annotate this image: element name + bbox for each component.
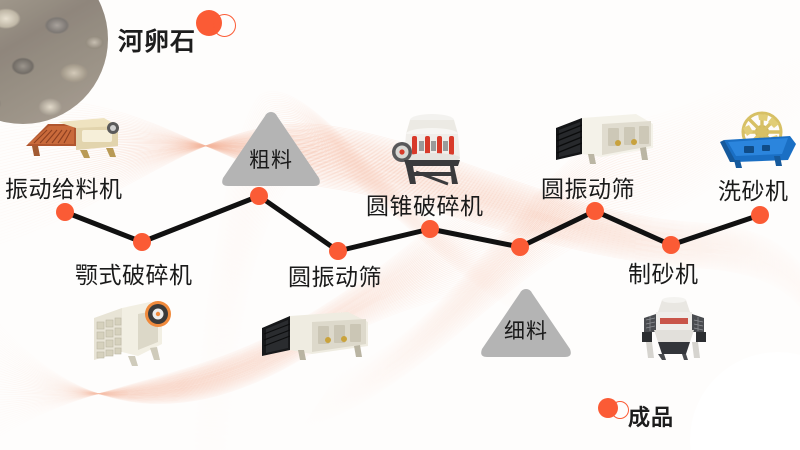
flow-node-label-vibrating-feeder: 振动给料机 xyxy=(5,170,123,204)
flow-node-jaw-crusher[interactable] xyxy=(133,233,151,251)
flowchart-canvas: 粗料 细料 振动给料机颚式破碎机圆振动筛圆锥破碎机圆振动筛制砂机洗砂机 河卵石 … xyxy=(0,0,800,450)
flow-node-peak-1[interactable] xyxy=(250,187,268,205)
flow-node-node-mid[interactable] xyxy=(511,238,529,256)
flow-node-label-cone-crusher: 圆锥破碎机 xyxy=(366,187,484,221)
flow-node-label-vibrating-screen-1: 圆振动筛 xyxy=(288,258,382,292)
process-flow-line xyxy=(0,0,800,450)
flow-node-label-sand-washer: 洗砂机 xyxy=(718,172,789,206)
outline-circle-icon xyxy=(213,14,236,37)
flow-node-label-jaw-crusher: 颚式破碎机 xyxy=(75,256,193,290)
flow-node-sand-maker[interactable] xyxy=(662,236,680,254)
flow-node-label-vibrating-screen-2: 圆振动筛 xyxy=(541,170,635,204)
outline-circle-icon xyxy=(611,401,629,419)
flow-node-cone-crusher[interactable] xyxy=(421,220,439,238)
flow-node-label-sand-maker: 制砂机 xyxy=(628,255,699,289)
flow-node-sand-washer[interactable] xyxy=(751,206,769,224)
pebble-headline-label: 河卵石 xyxy=(118,22,196,58)
product-headline-label: 成品 xyxy=(628,400,674,432)
flow-node-vibrating-feeder[interactable] xyxy=(56,203,74,221)
flow-node-vibrating-screen-2[interactable] xyxy=(586,202,604,220)
